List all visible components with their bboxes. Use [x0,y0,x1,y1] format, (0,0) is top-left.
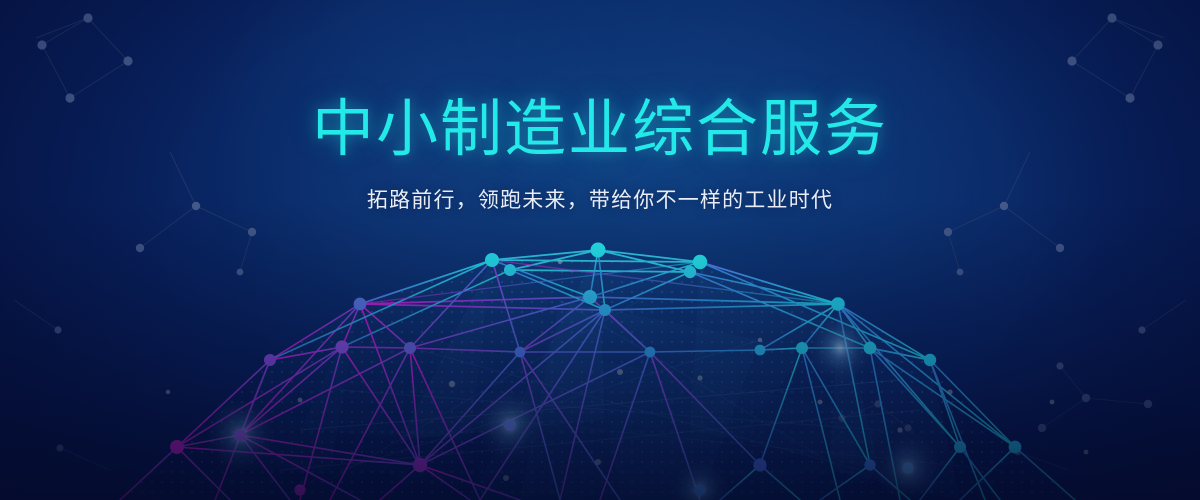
background-vignette [0,0,1200,500]
hero-banner: 中小制造业综合服务 拓路前行，领跑未来，带给你不一样的工业时代 [0,0,1200,500]
